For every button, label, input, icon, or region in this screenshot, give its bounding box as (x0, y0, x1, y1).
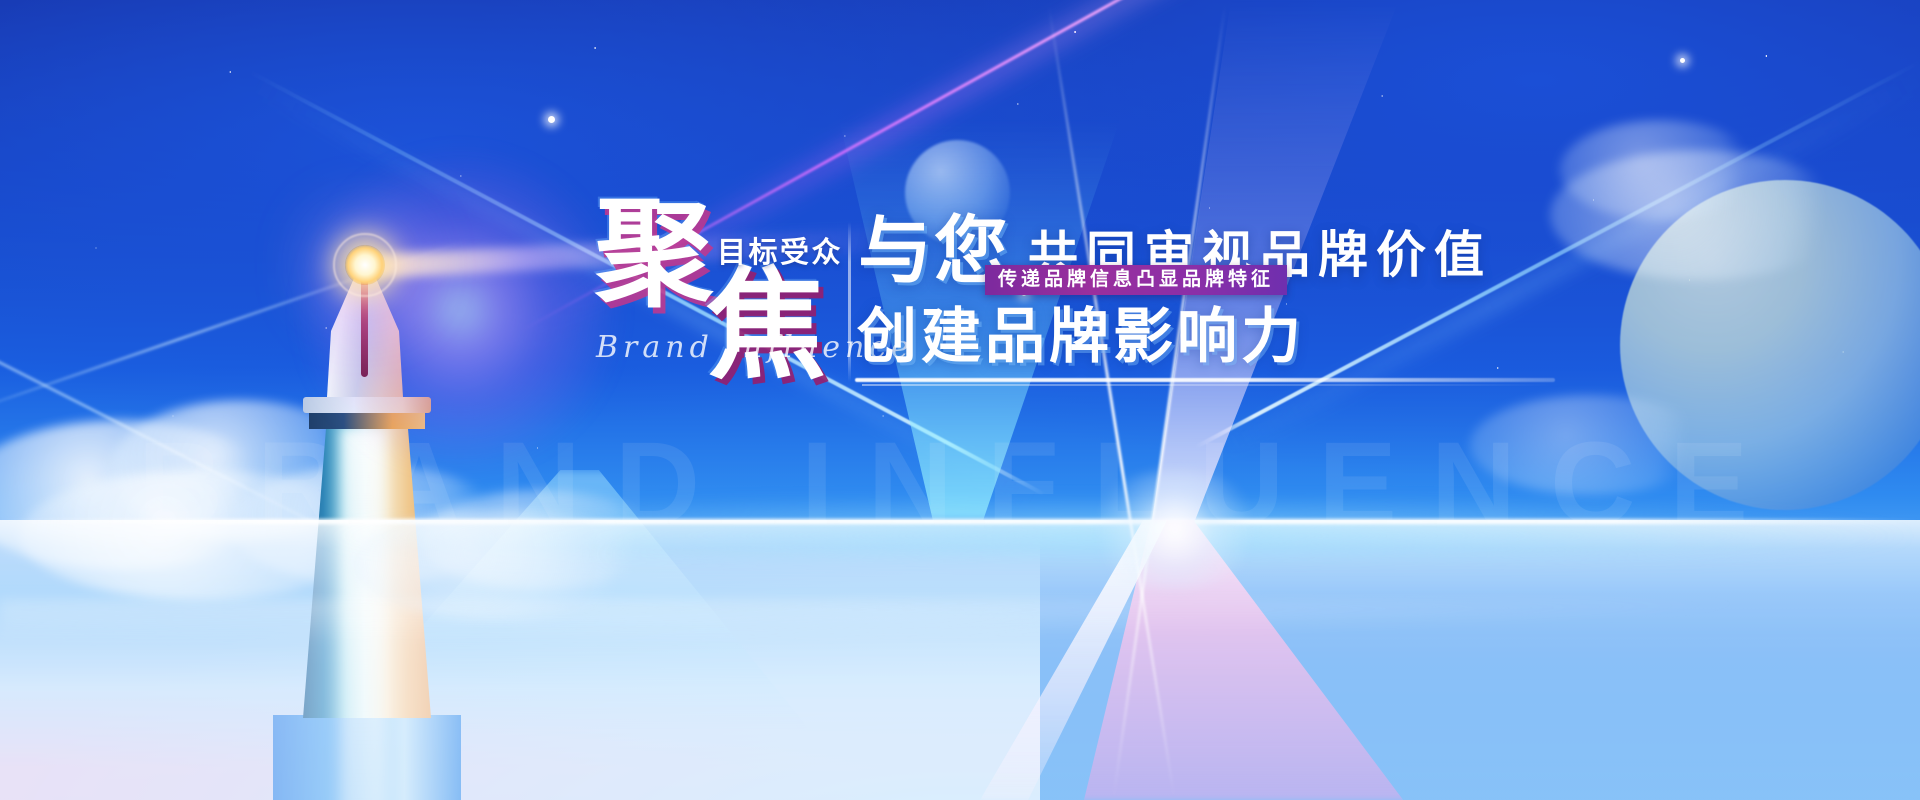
audience-label: 目标受众 (717, 229, 843, 271)
focus-title-char-1: 聚 (595, 196, 713, 314)
underline-rule-secondary (862, 384, 1552, 386)
tagline-badge: 传递品牌信息凸显品牌特征 (985, 265, 1287, 295)
focus-title-char-2: 焦 (706, 266, 826, 386)
banner-canvas: BRAND INFLUENCE 聚 焦 目标受众 Brand influence… (0, 0, 1920, 800)
headline-group: 聚 焦 目标受众 Brand influence 与您 共同审视品牌价值 传递品… (0, 0, 1920, 800)
subheadline: 创建品牌影响力 (857, 307, 1305, 367)
vertical-divider (848, 222, 851, 382)
underline-rule (855, 378, 1555, 382)
